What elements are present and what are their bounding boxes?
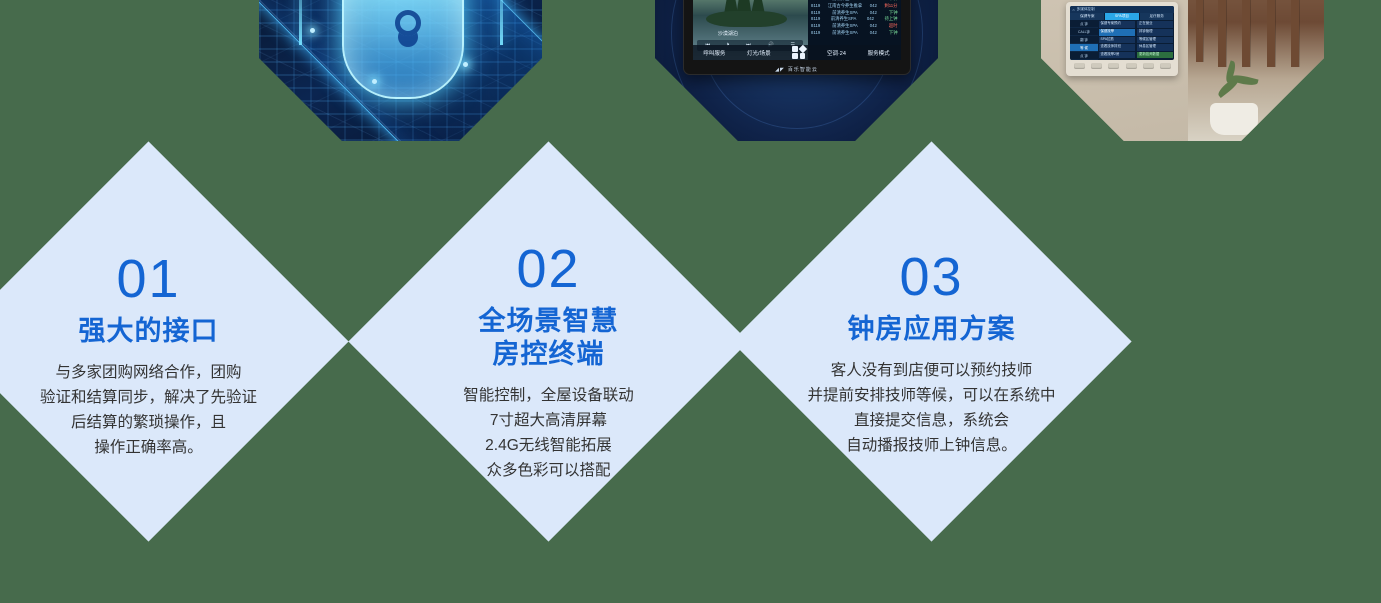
menu-left-item-4[interactable]: 查看按摩2房 (1099, 52, 1135, 59)
card-3-body-line-1: 客人没有到店便可以预约技师 (807, 358, 1055, 383)
panel-button-6[interactable] (1160, 63, 1171, 69)
card-1-number: 01 (116, 252, 180, 306)
wall-mounted-control-panel-interior-image: ⌂ 多媒体控制 保健专案 SPA项目 足疗服务 点 钟 CALL钟 (1041, 0, 1324, 141)
wood-slat (1242, 0, 1250, 67)
card-2-heading: 全场景智慧 房控终端 (479, 305, 619, 371)
cell-tech: 8119 (811, 23, 820, 30)
cell-status: 待上钟 (885, 16, 898, 23)
cell-time: 042 (867, 16, 874, 23)
cell-item: 前清养生SPA (832, 30, 857, 37)
toolbar-service-mode-button[interactable]: 服务模式 (868, 49, 890, 57)
side-item-3-active[interactable]: 等 候 (1070, 44, 1097, 52)
shield-lock-icon (342, 0, 464, 99)
menu-left-item-2[interactable]: SPA拉筋 (1099, 37, 1135, 44)
tablet-screen[interactable]: 沙漠湖泊 ⏮ ⏵ ⏭ 🔊 ☰ 22:35 (693, 0, 901, 60)
panel-hardware-buttons[interactable] (1070, 63, 1174, 69)
card-2-body: 智能控制，全屋设备联动 7寸超大高清屏幕 2.4G无线智能拓展 众多色彩可以搭配 (463, 383, 634, 483)
card-3-body: 客人没有到店便可以预约技师 并提前安排技师等候，可以在系统中 直接提交信息，系统… (807, 358, 1055, 458)
panel-screen[interactable]: ⌂ 多媒体控制 保健专案 SPA项目 足疗服务 点 钟 CALL钟 (1070, 6, 1174, 60)
card-2-body-line-4: 众多色彩可以搭配 (463, 458, 634, 483)
footer-brand-text: 百乐智能云 (788, 66, 818, 73)
card-3-heading: 钟房应用方案 (848, 313, 1016, 346)
wallpaper-label: 沙漠湖泊 (718, 30, 738, 37)
home-icon: ⌂ (1072, 8, 1074, 12)
menu-right-item-1[interactable]: 排钟管理 (1137, 29, 1173, 36)
card-2-number: 02 (516, 242, 580, 296)
toolbar-lighting-scene-button[interactable]: 灯光/场景 (747, 49, 771, 57)
card-3-body-line-3: 直接提交信息，系统会 (807, 408, 1055, 433)
light-beam-left (299, 0, 302, 45)
cell-time: 042 (870, 10, 877, 17)
glow-dot-3 (372, 79, 377, 84)
cell-tech: 8119 (811, 3, 820, 10)
glow-dot-1 (310, 28, 315, 33)
toolbar-aircon-button[interactable]: 空调·24 (827, 49, 846, 57)
menu-right-item-2[interactable]: 等候区管理 (1137, 37, 1173, 44)
table-row[interactable]: 8119 前清养生SPA 042 下钟 (811, 29, 897, 36)
card-1-heading-line-1: 强大的接口 (79, 315, 219, 348)
card-2-body-line-1: 智能控制，全屋设备联动 (463, 383, 634, 408)
side-item-1[interactable]: CALL钟 (1070, 28, 1097, 36)
card-2-text-diamond: 02 全场景智慧 房控终端 智能控制，全屋设备联动 7寸超大高清屏幕 2.4G无… (348, 141, 748, 541)
panel-button-4[interactable] (1126, 63, 1137, 69)
wood-slat (1267, 0, 1275, 67)
cell-tech: 8119 (811, 30, 820, 37)
card-3-number: 03 (899, 250, 963, 304)
menu-right-item-3[interactable]: 休息区管理 (1137, 44, 1173, 51)
panel-body: 点 钟 CALL钟 翻 钟 等 候 点 钟 保健专案预约 保健按摩 SPA拉筋 … (1070, 20, 1174, 60)
panel-tabs[interactable]: 保健专案 SPA项目 足疗服务 (1070, 13, 1174, 20)
brand-logo-icon: ◢◤ (775, 67, 785, 73)
wood-slat (1196, 0, 1203, 62)
panel-menu-left[interactable]: 保健专案预约 保健按摩 SPA拉筋 查看技师排班 查看按摩2房 (1098, 20, 1136, 60)
card-1-body-line-2: 验证和结算同步，解决了先验证 (40, 385, 257, 410)
room-control-tablet-device[interactable]: CSI280 沙漠湖泊 ⏮ ⏵ ⏭ 🔊 (683, 0, 911, 75)
card-2-heading-line-1: 全场景智慧 (479, 305, 619, 338)
card-2-heading-line-2: 房控终端 (479, 338, 619, 371)
card-1-body: 与多家团购网络合作，团购 验证和结算同步，解决了先验证 后结算的繁琐操作，且 操… (40, 360, 257, 460)
panel-button-3[interactable] (1108, 63, 1119, 69)
cell-time: 042 (870, 23, 877, 30)
panel-menu-right[interactable]: 正在营业 排钟管理 等候区管理 休息区管理 更新技师数据 (1136, 20, 1174, 60)
smart-room-control-tablet-image: CSI280 沙漠湖泊 ⏮ ⏵ ⏭ 🔊 (655, 0, 938, 141)
panel-title: 多媒体控制 (1077, 7, 1095, 12)
side-item-2[interactable]: 翻 钟 (1070, 36, 1097, 44)
panel-button-5[interactable] (1143, 63, 1154, 69)
panel-tab-0[interactable]: 保健专案 (1070, 13, 1104, 20)
panel-button-1[interactable] (1074, 63, 1085, 69)
cell-status: 下钟 (889, 29, 898, 36)
card-1-body-line-4: 操作正确率高。 (40, 435, 257, 460)
plant-pot (1210, 103, 1258, 135)
panel-tab-1-active[interactable]: SPA项目 (1105, 13, 1139, 20)
card-1-body-line-1: 与多家团购网络合作，团购 (40, 360, 257, 385)
wall-control-panel[interactable]: ⌂ 多媒体控制 保健专案 SPA项目 足疗服务 点 钟 CALL钟 (1066, 2, 1178, 76)
panel-tab-2[interactable]: 足疗服务 (1140, 13, 1174, 20)
light-beam-right (500, 0, 503, 45)
cell-time: 042 (870, 3, 877, 10)
menu-left-item-0[interactable]: 保健专案预约 (1099, 21, 1135, 28)
app-grid-icon[interactable] (792, 46, 805, 59)
tablet-bottom-toolbar[interactable]: 呼叫服务 灯光/场景 空调·24 服务模式 (693, 45, 901, 60)
menu-left-item-3[interactable]: 查看技师排班 (1099, 44, 1135, 51)
panel-title-bar: ⌂ 多媒体控制 (1070, 6, 1174, 13)
side-item-0[interactable]: 点 钟 (1070, 20, 1097, 28)
diamond-feature-board: 01 强大的接口 与多家团购网络合作，团购 验证和结算同步，解决了先验证 后结算… (0, 0, 1381, 603)
toolbar-call-service-button[interactable]: 呼叫服务 (703, 49, 725, 57)
card-3-image-diamond: ⌂ 多媒体控制 保健专案 SPA项目 足疗服务 点 钟 CALL钟 (982, 0, 1381, 200)
glow-dot-2 (463, 62, 468, 67)
cybersecurity-shield-circuit-board-image (259, 0, 542, 141)
cell-time: 042 (870, 30, 877, 37)
panel-side-nav[interactable]: 点 钟 CALL钟 翻 钟 等 候 点 钟 (1070, 20, 1097, 60)
menu-left-item-1-selected[interactable]: 保健按摩 (1099, 29, 1135, 36)
card-3-body-line-4: 自动播报技师上钟信息。 (807, 433, 1055, 458)
card-1-text-diamond: 01 强大的接口 与多家团购网络合作，团购 验证和结算同步，解决了先验证 后结算… (0, 141, 349, 541)
island (706, 11, 787, 27)
menu-right-item-0[interactable]: 正在营业 (1137, 21, 1173, 28)
side-item-4[interactable]: 点 钟 (1070, 52, 1097, 60)
wood-slat (1291, 0, 1299, 67)
card-3-heading-line-1: 钟房应用方案 (848, 313, 1016, 346)
interior-room-background (1188, 0, 1324, 141)
card-2-body-line-2: 7寸超大高清屏幕 (463, 408, 634, 433)
wood-slat (1218, 0, 1226, 67)
card-1-heading: 强大的接口 (79, 315, 219, 348)
card-3-text-diamond: 03 钟房应用方案 客人没有到店便可以预约技师 并提前安排技师等候，可以在系统中… (731, 141, 1131, 541)
card-2-body-line-3: 2.4G无线智能拓展 (463, 433, 634, 458)
card-3-body-line-2: 并提前安排技师等候，可以在系统中 (807, 383, 1055, 408)
card-1-body-line-3: 后结算的繁琐操作，且 (40, 410, 257, 435)
panel-button-2[interactable] (1091, 63, 1102, 69)
menu-right-item-4-highlight[interactable]: 更新技师数据 (1137, 52, 1173, 59)
tablet-footer-brand: ◢◤ 百乐智能云 (684, 66, 910, 73)
table-row[interactable]: 8119 前清养生SPA 042 待上钟 (811, 16, 897, 23)
